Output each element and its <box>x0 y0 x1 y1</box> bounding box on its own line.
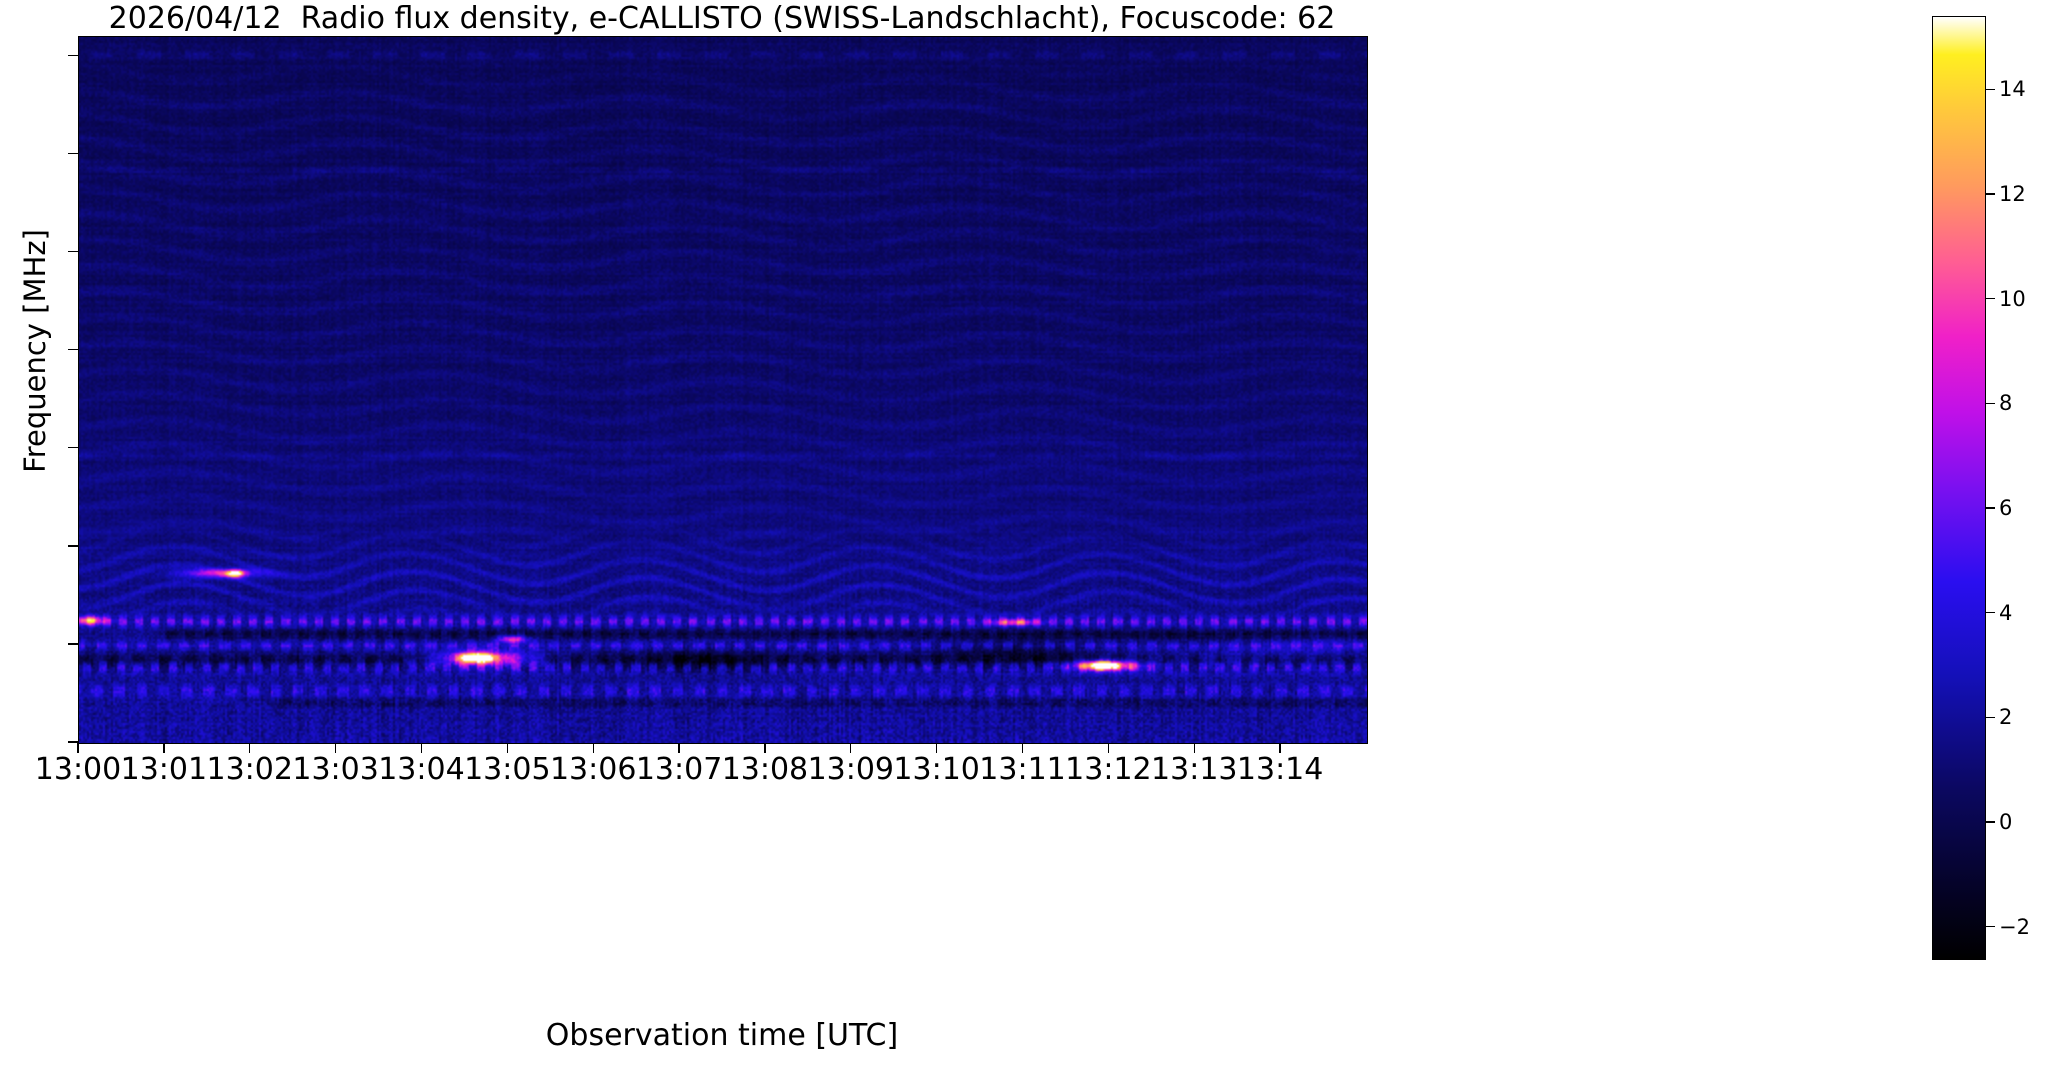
y-tick-mark <box>68 251 78 252</box>
colorbar-tick-mark <box>1986 193 1995 194</box>
colorbar-tick-label: 10 <box>1999 287 2043 311</box>
colorbar-tick-mark <box>1986 89 1995 90</box>
colorbar-tick-mark <box>1986 821 1995 822</box>
colorbar-tick-label: 12 <box>1999 182 2043 206</box>
y-tick-mark <box>68 349 78 350</box>
spectrogram-axes[interactable] <box>78 36 1368 744</box>
y-tick-mark <box>68 643 78 644</box>
y-axis-label: Frequency [MHz] <box>18 0 52 704</box>
spectrogram-image[interactable] <box>79 37 1367 743</box>
colorbar-gradient <box>1933 17 1985 959</box>
colorbar-tick-mark <box>1986 507 1995 508</box>
colorbar-tick-label: 14 <box>1999 77 2043 101</box>
colorbar-tick-mark <box>1986 612 1995 613</box>
colorbar-tick-label: 0 <box>1999 810 2043 834</box>
figure-canvas: 2026/04/12 Radio flux density, e-CALLIST… <box>0 0 2047 1067</box>
y-tick-mark <box>68 153 78 154</box>
colorbar-tick-mark <box>1986 298 1995 299</box>
colorbar-tick-label: 6 <box>1999 496 2043 520</box>
colorbar-tick-mark <box>1986 926 1995 927</box>
y-tick-mark <box>68 55 78 56</box>
page-title: 2026/04/12 Radio flux density, e-CALLIST… <box>78 2 1366 36</box>
colorbar-tick-label: 4 <box>1999 601 2043 625</box>
colorbar-tick-label: −2 <box>1999 915 2043 939</box>
y-tick-mark <box>68 447 78 448</box>
colorbar-tick-mark <box>1986 403 1995 404</box>
colorbar-tick-label: 2 <box>1999 705 2043 729</box>
x-tick-label: 13:14 <box>1200 752 1360 787</box>
colorbar[interactable] <box>1932 16 1986 960</box>
x-axis-label: Observation time [UTC] <box>78 1018 1366 1053</box>
y-tick-mark <box>68 545 78 546</box>
colorbar-tick-label: 8 <box>1999 391 2043 415</box>
colorbar-tick-mark <box>1986 717 1995 718</box>
